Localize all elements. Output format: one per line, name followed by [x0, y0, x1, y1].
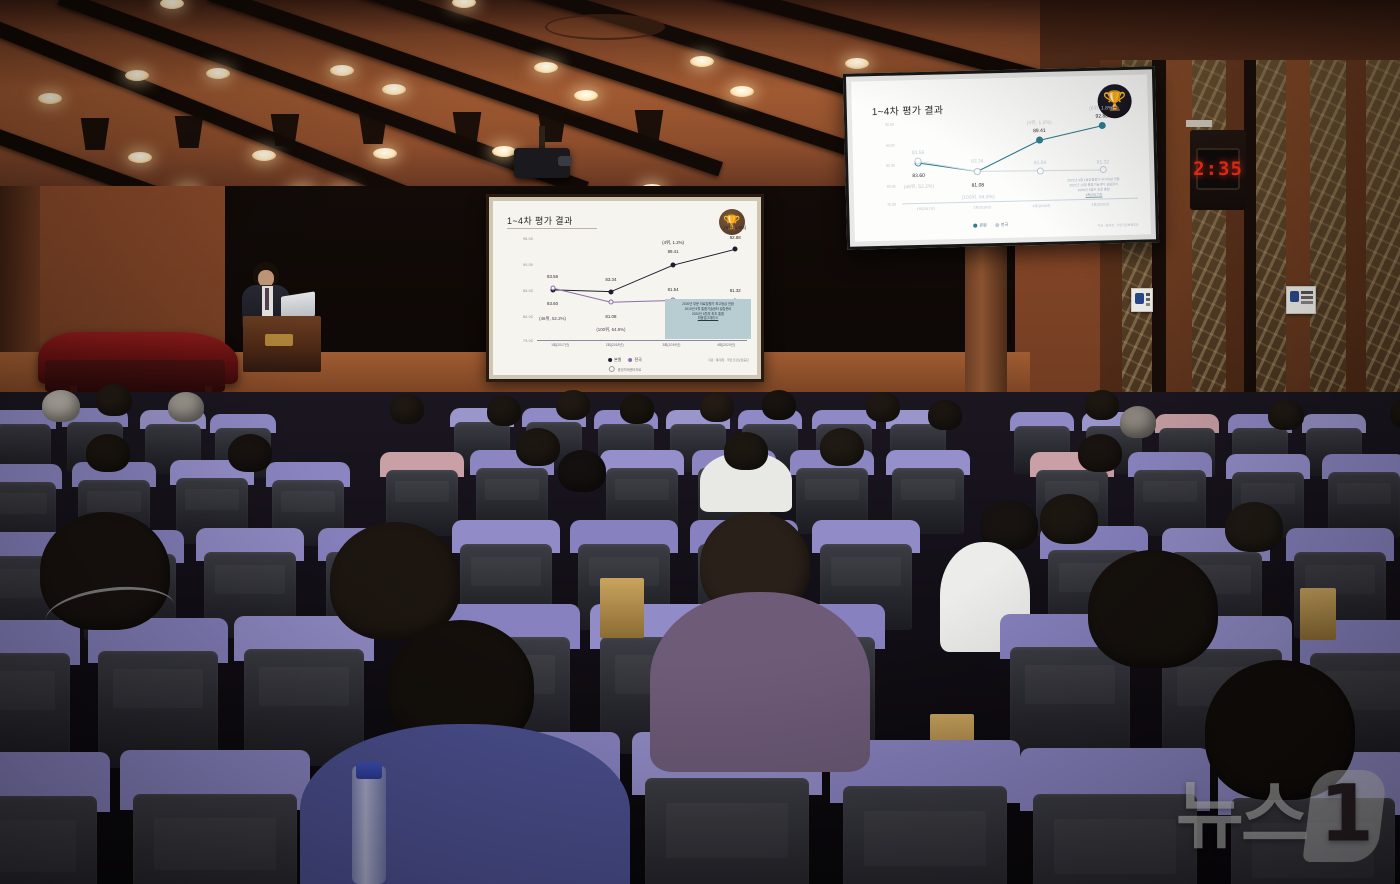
- legend-item-jeonguk: 전국: [629, 357, 642, 363]
- series-line-bonwon: [553, 249, 736, 291]
- point-label: 92.88: [1095, 113, 1108, 120]
- rank-label: (100위, 64.9%): [596, 327, 625, 333]
- seat: [0, 752, 110, 884]
- watermark-text: 뉴스: [1176, 779, 1306, 853]
- point-label: 83.34: [605, 277, 616, 283]
- x-tick: 2회(2018년): [606, 342, 624, 347]
- slide-title-underline: [507, 228, 597, 229]
- seat: [1128, 452, 1212, 536]
- x-tick: 4회(2020년): [717, 342, 735, 347]
- series-line-jeonguk: [918, 157, 1103, 175]
- watermark-logomark: [1302, 770, 1387, 862]
- ceiling-vent: [545, 14, 665, 40]
- x-tick: 3회(2019년): [1032, 203, 1050, 208]
- rank-label: (46위, 52.2%): [904, 184, 935, 192]
- point-label: 81.32: [730, 288, 741, 294]
- x-tick: 1회(2017년): [917, 206, 935, 211]
- ceiling-light: [574, 90, 598, 101]
- audience-head: [487, 396, 521, 426]
- y-tick: 85.00: [886, 164, 895, 168]
- tv-chart-legend: 본원 전국: [973, 222, 1008, 229]
- ceiling-light: [492, 146, 516, 157]
- slide-org-caption: 중앙치매센터자료: [609, 366, 641, 372]
- point-label: 81.32: [1097, 159, 1110, 166]
- x-tick: 4회(2020년): [1091, 201, 1109, 206]
- audience-head: [1040, 494, 1098, 544]
- data-point: [608, 289, 613, 294]
- point-label: 83.60: [912, 173, 925, 180]
- ceiling-light: [845, 58, 869, 69]
- x-tick: 3회(2019년): [662, 342, 680, 347]
- y-tick: 75.00: [887, 203, 896, 207]
- ceiling-light: [128, 152, 152, 163]
- rank-label: (4위, 1.2%): [1027, 120, 1052, 128]
- ceiling-light: [690, 56, 714, 67]
- audience-head: [1088, 550, 1218, 668]
- ceiling-light: [125, 70, 149, 81]
- wall-strip: [1186, 120, 1212, 127]
- tv-note-block: 2021년 9월 1등급통합기 부가대상 전환 2021년 12월 통합기술센터…: [1048, 177, 1140, 199]
- ceiling-beam: [0, 7, 445, 200]
- legend-item-jeonguk: 전국: [995, 222, 1009, 228]
- tv-slide-title: 1~4차 평가 결과: [872, 101, 944, 118]
- audience-shoulders-front: [300, 724, 630, 884]
- info-sign-icon: [1290, 291, 1299, 302]
- led-clock-value: 2:35: [1193, 158, 1243, 180]
- y-tick: 95.00: [885, 123, 894, 127]
- audience-head: [86, 434, 130, 472]
- audience-head: [558, 450, 606, 492]
- data-point: [733, 247, 738, 252]
- audience-head: [820, 428, 864, 466]
- y-tick: 90.00: [523, 263, 533, 267]
- y-tick: 90.00: [886, 143, 895, 147]
- water-bottle-cap: [356, 762, 382, 779]
- chart-legend: 본원 전국: [608, 357, 642, 363]
- tv-y-axis-ticks: 95.00 90.00 85.00 80.00 75.00: [866, 123, 896, 206]
- slide-source: 자료 : 통계청 · 국민건강보험공단: [708, 358, 749, 362]
- ceiling-beam: [0, 86, 277, 200]
- audience-head: [762, 390, 796, 420]
- audience-head: [700, 392, 734, 422]
- point-label: 89.41: [668, 249, 679, 255]
- ceiling-light: [534, 62, 558, 73]
- x-tick: 1회(2017년): [551, 342, 569, 347]
- ceiling-light: [38, 93, 62, 104]
- audience-head: [516, 428, 560, 466]
- slide-info-box: 2020년 부문 의료질평가 최고등급 전환 2019년 5월 통합기술센터 설…: [665, 299, 751, 339]
- audience-head: [1268, 400, 1304, 430]
- water-bottle: [352, 766, 386, 884]
- legend-item-bonwon: 본원: [608, 357, 621, 363]
- projection-screen: 1~4차 평가 결과 🏆 95.00 90.00 85.00 80.00 75.…: [486, 194, 764, 382]
- point-label: 83.34: [971, 158, 984, 165]
- seat: [234, 616, 374, 766]
- x-axis: [537, 340, 747, 341]
- y-tick: 85.00: [523, 289, 533, 293]
- ceiling-light: [452, 0, 476, 8]
- seat: [88, 618, 228, 768]
- x-tick: 2회(2018년): [973, 204, 991, 209]
- y-tick: 95.00: [523, 237, 533, 241]
- ceiling-speaker: [78, 118, 112, 150]
- rank-label: (4위, 1.2%): [662, 240, 684, 246]
- seat: [1322, 454, 1400, 538]
- audience-head: [928, 400, 962, 430]
- ceiling-light: [160, 0, 184, 9]
- ceiling-light: [206, 68, 230, 79]
- point-label: 81.54: [668, 287, 679, 293]
- podium-emblem: [265, 334, 293, 346]
- rank-label: (6위, 1.8%): [1089, 105, 1114, 113]
- audience-head: [620, 394, 654, 424]
- ceiling-speaker: [172, 116, 206, 148]
- audience-shoulders: [650, 592, 870, 772]
- projection-slide: 1~4차 평가 결과 🏆 95.00 90.00 85.00 80.00 75.…: [493, 201, 757, 375]
- audience-head: [1085, 390, 1119, 420]
- trophy-icon: 🏆: [719, 209, 745, 235]
- wall-mounted-tv: 1~4차 평가 결과 🏆 95.00 90.00 85.00 80.00 75.…: [843, 66, 1159, 250]
- audience-head: [1225, 502, 1283, 552]
- point-label: 83.60: [547, 301, 558, 307]
- wall-sign-right: [1286, 286, 1316, 314]
- presenter-tie: [265, 288, 269, 310]
- point-label: 83.56: [912, 150, 925, 157]
- legend-item-bonwon: 본원: [973, 222, 987, 228]
- tv-source: 자료 : 통계청 · 국민건강보험공단: [1098, 223, 1139, 228]
- audience-head: [1078, 434, 1122, 472]
- wall-sign-left: [1131, 288, 1153, 312]
- folding-tray-table: [600, 578, 644, 638]
- seat: [120, 750, 310, 884]
- ceiling-light: [252, 150, 276, 161]
- point-label: 81.54: [1034, 160, 1047, 167]
- audience-head: [1390, 398, 1400, 428]
- audience-head: [724, 432, 768, 470]
- tv-slide: 1~4차 평가 결과 🏆 95.00 90.00 85.00 80.00 75.…: [851, 74, 1151, 241]
- y-tick: 75.00: [523, 339, 533, 343]
- ceiling-light: [382, 84, 406, 95]
- audience-head: [42, 390, 80, 422]
- data-point: [671, 263, 676, 268]
- data-point: [550, 286, 555, 291]
- info-sign-icon: [1135, 293, 1144, 304]
- audience-head: [390, 394, 424, 424]
- data-point: [608, 300, 613, 305]
- auditorium-photo: 2:35 1~4차 평가 결과 🏆 95.00 90.00 85.00 80.0…: [0, 0, 1400, 884]
- y-tick: 80.00: [523, 315, 533, 319]
- rank-label: (6위, 1.8%): [724, 225, 746, 231]
- rank-label: (46위, 52.2%): [539, 316, 566, 322]
- audience-head: [228, 434, 272, 472]
- folding-tray-table: [1300, 588, 1336, 640]
- seat: [0, 620, 80, 770]
- point-label: 89.41: [1033, 128, 1046, 135]
- ceiling-light: [330, 65, 354, 76]
- point-label: 81.08: [605, 314, 616, 320]
- info-line: 최종업그레이드: [669, 316, 747, 321]
- point-label: 81.08: [972, 183, 985, 190]
- ceiling-light: [373, 148, 397, 159]
- led-clock: 2:35: [1196, 148, 1240, 190]
- ceiling-speaker: [356, 112, 390, 144]
- y-tick: 80.00: [887, 184, 896, 188]
- point-label: 83.56: [547, 274, 558, 280]
- slide-title: 1~4차 평가 결과: [507, 214, 573, 227]
- y-axis-ticks: 95.00 90.00 85.00 80.00 75.00: [507, 237, 533, 341]
- news1-watermark: 뉴스: [1176, 770, 1382, 862]
- audience-head: [1120, 406, 1156, 438]
- audience-head: [866, 392, 900, 422]
- audience-head: [168, 392, 204, 422]
- audience-head: [556, 390, 590, 420]
- ceiling-light: [730, 86, 754, 97]
- audience-head: [96, 384, 132, 416]
- x-axis-labels: 1회(2017년) 2회(2018년) 3회(2019년) 4회(2020년): [537, 342, 747, 352]
- point-label: 92.88: [730, 235, 741, 241]
- projector-lens-icon: [558, 156, 572, 166]
